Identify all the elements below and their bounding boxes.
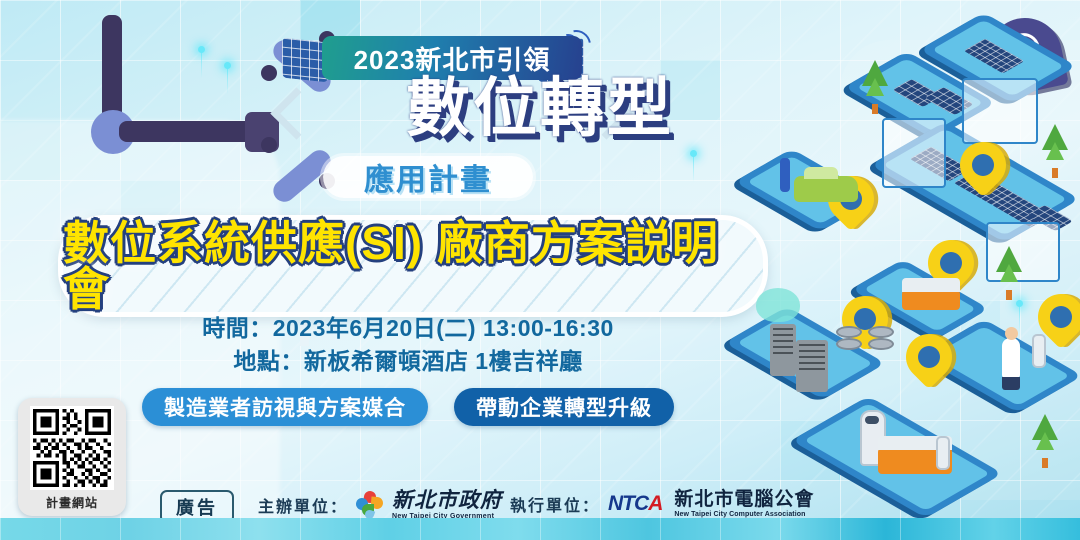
ad-badge-label: 廣告	[176, 494, 218, 520]
iso-building	[882, 118, 946, 188]
ntca-mark-a: A	[648, 492, 662, 515]
qr-code-card[interactable]: 計畫網站	[18, 398, 126, 516]
tree-icon	[996, 246, 1022, 272]
tree-trunk	[1042, 458, 1048, 468]
host-organization: 主辦單位： 新北市政府 New Taipei City Government	[258, 490, 502, 520]
map-pin-gear-icon	[896, 324, 961, 389]
event-title-text: 數位系統供應(SI) 廠商方案説明會	[63, 220, 763, 312]
topic-pill-group: 製造業者訪視與方案媒合 帶動企業轉型升級	[58, 388, 758, 426]
exec-label: 執行單位：	[510, 492, 600, 516]
topic-pill-enterprise-upgrade[interactable]: 帶動企業轉型升級	[454, 388, 674, 426]
scientist-figure	[1002, 338, 1020, 378]
subtitle-pill: 應用計畫	[323, 156, 533, 198]
new-taipei-city-logo-icon	[356, 491, 384, 519]
tagline-text: 2023新北市引領	[354, 40, 551, 77]
tree-icon	[1042, 124, 1068, 150]
bottom-color-strip	[0, 518, 1080, 540]
event-info: 時間：2023年6月20日(二) 13:00-16:30 地點：新板希爾頓酒店 …	[58, 312, 758, 377]
drone-icon	[836, 326, 892, 348]
tree-trunk	[1006, 290, 1012, 300]
subtitle-text: 應用計畫	[364, 155, 492, 199]
server-rack-icon	[796, 340, 828, 392]
qr-code-image[interactable]	[30, 406, 114, 490]
promo-banner: 2023新北市引領 數位轉型 應用計畫 數位系統供應(SI) 廠商方案説明會 時…	[0, 0, 1080, 540]
tree-trunk	[1052, 168, 1058, 178]
brain-icon	[756, 288, 800, 322]
qr-code-label: 計畫網站	[46, 494, 98, 511]
host-label: 主辦單位：	[258, 493, 348, 517]
host-name-cn: 新北市政府	[392, 490, 502, 511]
event-title-sign: 數位系統供應(SI) 廠商方案説明會	[58, 215, 768, 317]
isometric-smart-city-illustration: 新北市政府	[750, 0, 1080, 520]
topic-pill-manufacturer-visit[interactable]: 製造業者訪視與方案媒合	[142, 388, 428, 426]
robot-arm-small-icon	[936, 436, 950, 470]
tree-trunk	[872, 104, 878, 114]
server-rack-icon	[770, 324, 796, 376]
electric-car-icon	[794, 176, 858, 202]
iso-building	[962, 78, 1038, 144]
robot-arm-small-icon	[1032, 334, 1046, 368]
tree-icon	[862, 60, 888, 86]
host-name: 新北市政府 New Taipei City Government	[392, 490, 502, 520]
ev-charger-icon	[780, 158, 790, 192]
ntca-logo-icon: NTCA	[608, 492, 662, 516]
event-time-line: 時間：2023年6月20日(二) 13:00-16:30	[58, 312, 758, 345]
production-machine-icon	[902, 290, 960, 310]
ntca-mark-ntc: NTC	[608, 492, 648, 515]
tree-icon	[1032, 414, 1058, 440]
event-place-line: 地點：新板希爾頓酒店 1樓吉祥廳	[58, 345, 758, 378]
